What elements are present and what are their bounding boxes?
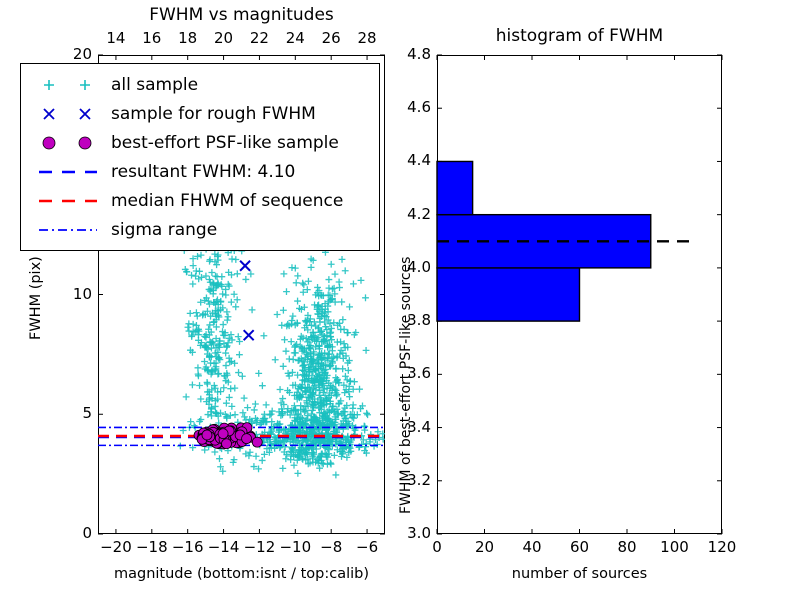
legend-item: best-effort PSF-like sample xyxy=(29,128,369,157)
histogram-ytick: 4.2 xyxy=(351,205,431,223)
legend-marker-plus-icon xyxy=(29,74,107,96)
legend-marker-dashed-icon xyxy=(29,190,107,212)
histogram-xtick: 120 xyxy=(682,538,762,556)
scatter-ytick: 10 xyxy=(12,285,92,303)
histogram-ytick: 3.6 xyxy=(351,364,431,382)
legend-item-label: sample for rough FWHM xyxy=(107,104,316,124)
legend-item-label: sigma range xyxy=(107,220,217,240)
histogram-x-axis-label: number of sources xyxy=(437,566,722,582)
histogram-ytick: 4.4 xyxy=(351,151,431,169)
histogram-ytick: 3.2 xyxy=(351,471,431,489)
legend-item: sample for rough FWHM xyxy=(29,99,369,128)
legend-marker-dashdot-icon xyxy=(29,219,107,241)
legend-item: sigma range xyxy=(29,215,369,244)
legend-item-label: best-effort PSF-like sample xyxy=(107,133,339,153)
histogram-bar xyxy=(437,161,473,214)
scatter-ytick: 5 xyxy=(12,404,92,422)
legend-item: all sample xyxy=(29,70,369,99)
legend-marker-dashed-icon xyxy=(29,161,107,183)
histogram-ytick: 3.0 xyxy=(351,524,431,542)
scatter-ytick: 0 xyxy=(12,524,92,542)
histogram-ytick: 4.8 xyxy=(351,45,431,63)
legend-item-label: all sample xyxy=(107,75,198,95)
figure-canvas: FWHM vs magnitudes magnitude (bottom:isn… xyxy=(0,0,800,600)
legend-marker-cross-icon xyxy=(29,103,107,125)
histogram-ytick: 4.0 xyxy=(351,258,431,276)
scatter-ytick: 20 xyxy=(12,45,92,63)
legend-item-label: median FHWM of sequence xyxy=(107,191,343,211)
legend-item: median FHWM of sequence xyxy=(29,186,369,215)
legend-item-label: resultant FWHM: 4.10 xyxy=(107,162,295,182)
histogram-bar xyxy=(437,268,580,321)
histogram-ytick: 4.6 xyxy=(351,98,431,116)
scatter-legend: all samplesample for rough FWHMbest-effo… xyxy=(20,63,380,251)
legend-item: resultant FWHM: 4.10 xyxy=(29,157,369,186)
histogram-ytick: 3.8 xyxy=(351,311,431,329)
histogram-ytick: 3.4 xyxy=(351,418,431,436)
legend-marker-circle-icon xyxy=(29,132,107,154)
